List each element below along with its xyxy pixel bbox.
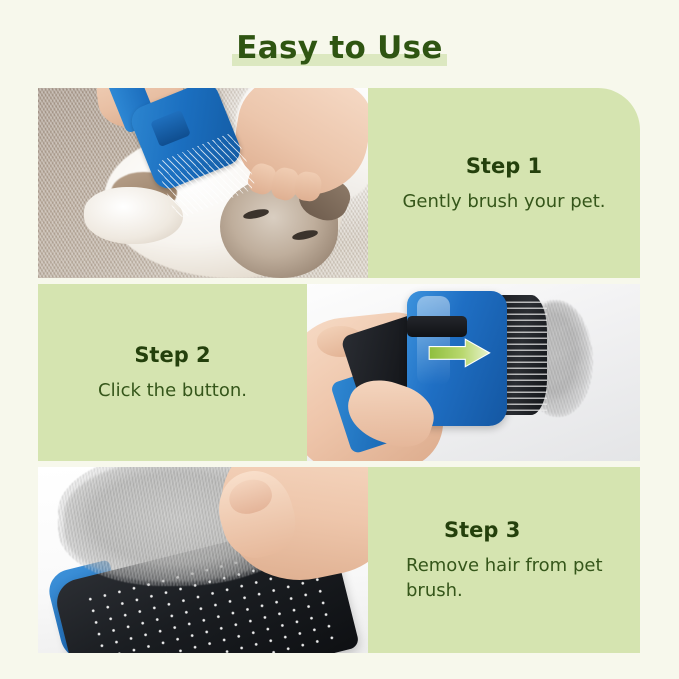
green-right-arrow-icon	[420, 337, 500, 369]
step-2-text-panel: Step 2 Click the button.	[38, 284, 307, 461]
step-3-heading: Step 3	[444, 517, 520, 543]
step-row-3: Step 3 Remove hair from pet brush.	[38, 467, 640, 653]
step-2-photo	[307, 284, 640, 461]
page-title-text: Easy to Use	[236, 30, 442, 66]
step-2-heading: Step 2	[134, 342, 210, 368]
step-3-text-panel: Step 3 Remove hair from pet brush.	[368, 467, 640, 653]
brush-release-button	[407, 316, 467, 337]
step-row-1: Step 1 Gently brush your pet.	[38, 88, 640, 278]
step-1-photo	[38, 88, 368, 278]
step-2-description: Click the button.	[98, 378, 247, 403]
step-3-photo	[38, 467, 368, 653]
step-3-description: Remove hair from pet brush.	[406, 553, 611, 603]
step-1-description: Gently brush your pet.	[402, 189, 605, 214]
step-1-heading: Step 1	[466, 153, 542, 179]
step-row-2: Step 2 Click the button.	[38, 284, 640, 461]
page-title: Easy to Use	[0, 28, 679, 76]
step-1-text-panel: Step 1 Gently brush your pet.	[368, 88, 640, 278]
